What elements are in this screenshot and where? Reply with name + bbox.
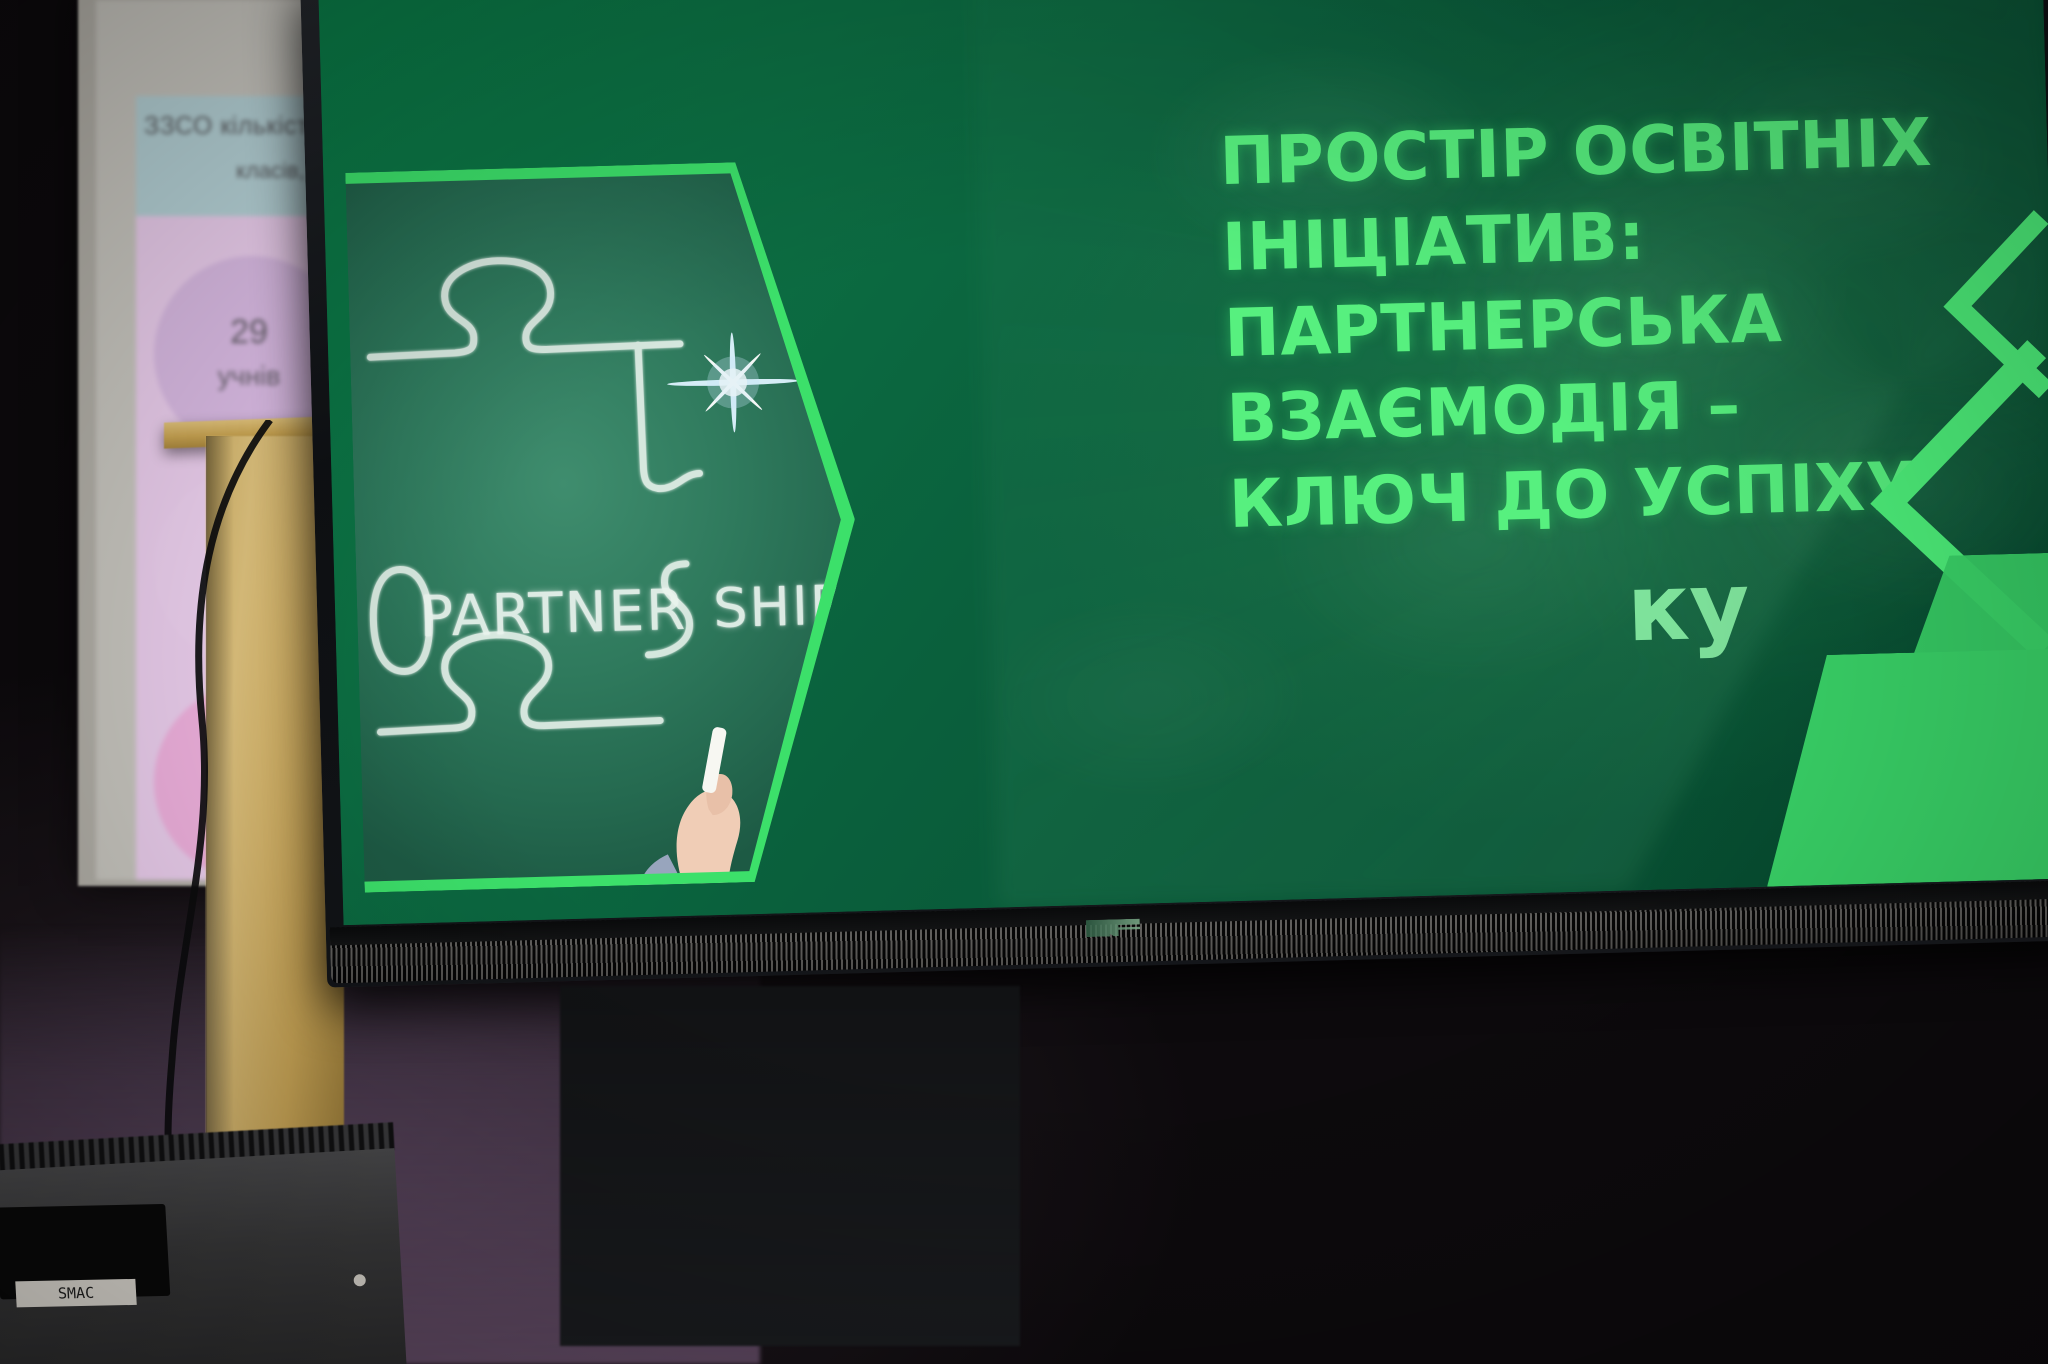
- foreground-equipment: SMAC: [0, 1122, 406, 1364]
- presentation-slide: PARTNER SHIP: [318, 0, 2048, 925]
- bubble-1-label: 29 учнів: [184, 308, 314, 396]
- bubble-1-value: 29: [230, 313, 268, 351]
- tv-stand: [560, 986, 1020, 1346]
- slide-watermark-text: ку: [1626, 552, 1751, 662]
- power-cable: [150, 420, 330, 1180]
- equipment-label-text: SMAC: [15, 1279, 136, 1307]
- equipment-label-tag: SMAC: [15, 1279, 136, 1307]
- tv-screen: PARTNER SHIP: [318, 0, 2048, 925]
- photograph-scene: ЗЗСО кількість класів, 29 учнів 12 клас …: [0, 0, 2048, 1364]
- chevron-accent-small: [1899, 209, 2048, 403]
- bubble-1-unit: учнів: [184, 357, 314, 396]
- television: PARTNER SHIP: [300, 0, 2048, 988]
- chalk-word-partner: PARTNER: [418, 578, 687, 650]
